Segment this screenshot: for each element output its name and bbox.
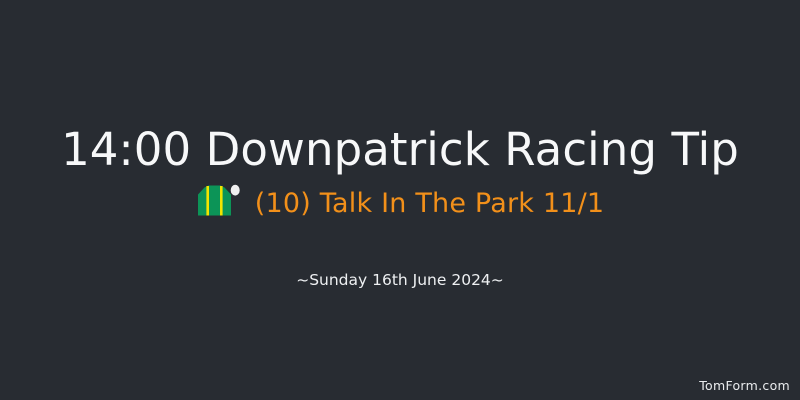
tip-selection-text: (10) Talk In The Park 11/1 <box>255 187 605 221</box>
date-row: ~Sunday 16th June 2024~ <box>0 270 800 289</box>
tip-inner: (10) Talk In The Park 11/1 <box>196 183 605 225</box>
meeting-date: ~Sunday 16th June 2024~ <box>296 271 504 289</box>
footer: TomForm.com <box>699 375 790 394</box>
racing-tip-card: 14:00 Downpatrick Racing Tip <box>0 0 800 400</box>
brand-watermark: TomForm.com <box>699 378 790 393</box>
racing-silks-icon <box>196 182 242 224</box>
tip-row: (10) Talk In The Park 11/1 <box>0 183 800 225</box>
page-title: 14:00 Downpatrick Racing Tip <box>61 126 739 173</box>
